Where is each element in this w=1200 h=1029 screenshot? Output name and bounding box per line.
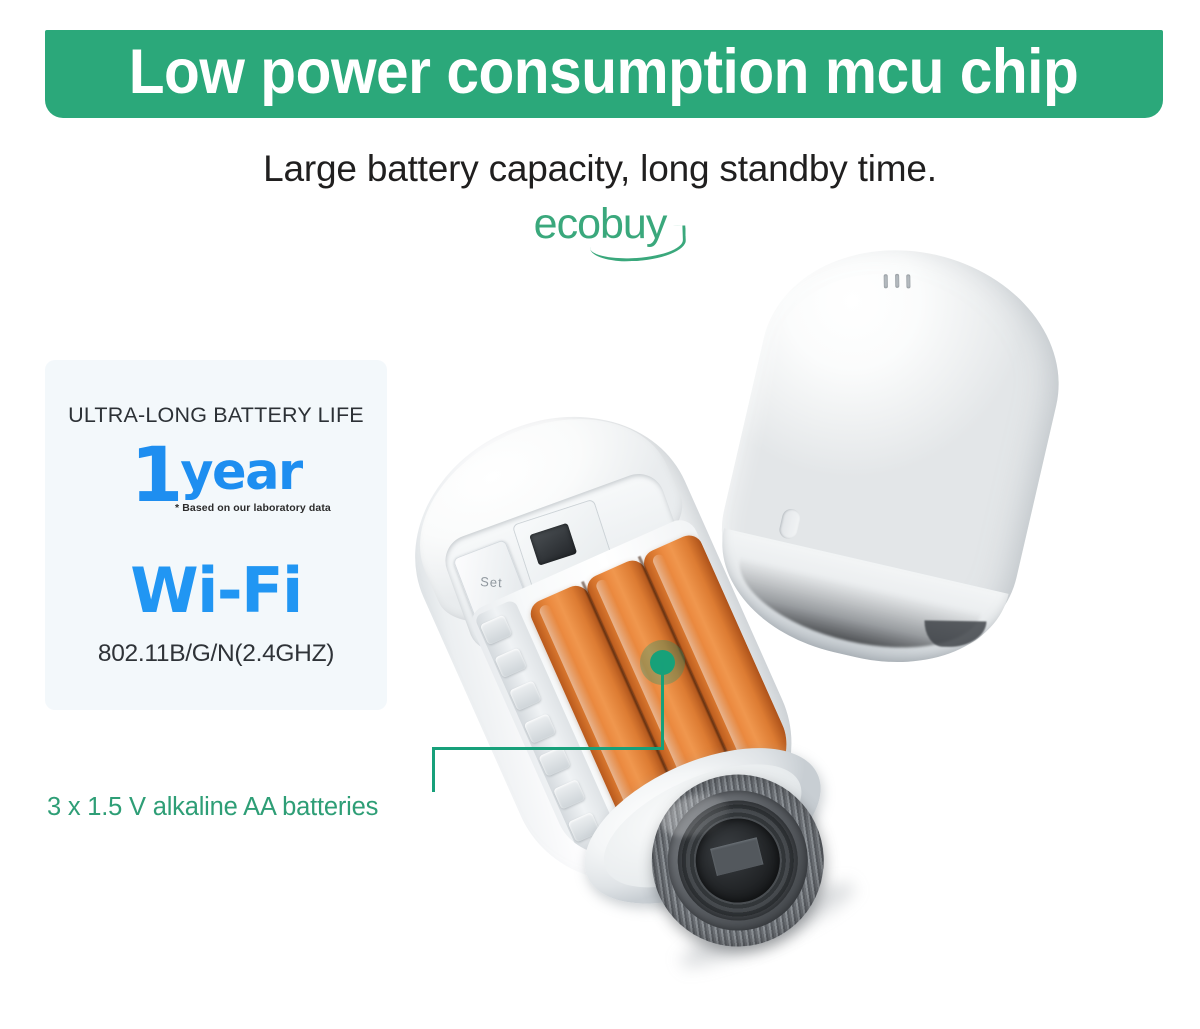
callout-leader-elbow	[432, 747, 435, 792]
header-banner: Low power consumption mcu chip	[45, 30, 1163, 118]
callout-leader-vertical	[661, 662, 664, 750]
cover-edge-shadow	[924, 620, 986, 647]
product-photo: Set	[0, 240, 1200, 940]
set-button-label: Set	[479, 574, 502, 590]
product-feature-page: Low power consumption mcu chip Large bat…	[0, 0, 1200, 975]
callout-label: 3 x 1.5 V alkaline AA batteries	[47, 793, 378, 822]
callout-leader-horizontal	[432, 747, 664, 750]
vent-slot-icon	[895, 274, 899, 288]
vent-slot-icon	[884, 274, 888, 288]
vent-slot-icon	[906, 274, 910, 288]
page-title: Low power consumption mcu chip	[129, 41, 1079, 108]
subtitle: Large battery capacity, long standby tim…	[0, 148, 1200, 190]
